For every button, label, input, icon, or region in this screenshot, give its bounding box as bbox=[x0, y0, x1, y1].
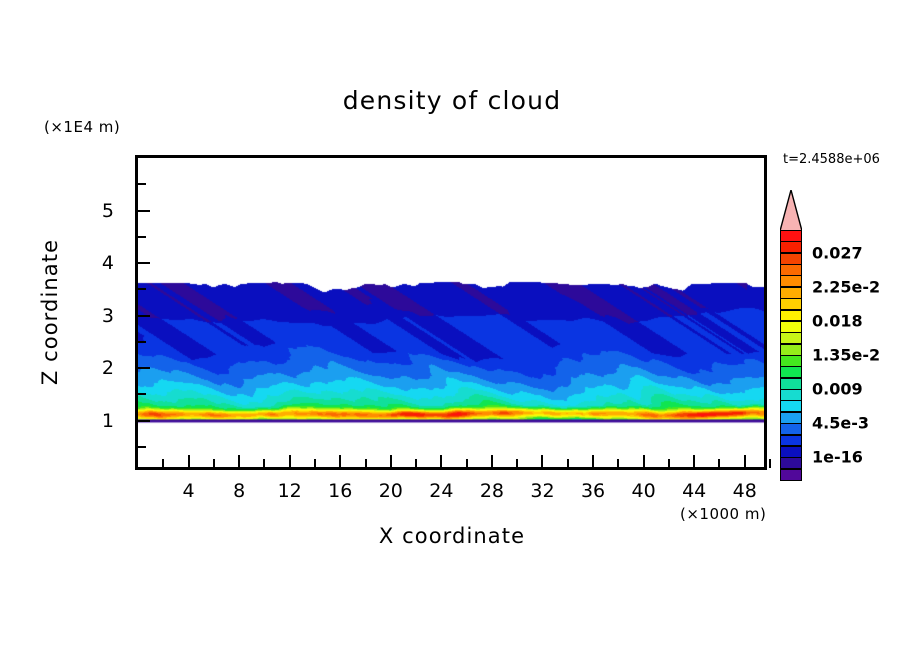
colorbar-tick-label: 2.25e-2 bbox=[812, 277, 880, 296]
x-axis-tick-label: 4 bbox=[183, 480, 195, 502]
x-axis-tick bbox=[440, 455, 442, 468]
colorbar-band bbox=[780, 310, 802, 322]
colorbar-band bbox=[780, 366, 802, 378]
contour-field bbox=[138, 158, 764, 467]
x-axis-tick bbox=[491, 455, 493, 468]
x-axis-tick bbox=[466, 459, 468, 468]
colorbar-arrow-tip bbox=[780, 190, 802, 231]
x-axis-tick bbox=[769, 459, 771, 468]
x-axis-tick-label: 32 bbox=[530, 480, 554, 502]
colorbar-band bbox=[780, 287, 802, 299]
y-axis-tick-label: 2 bbox=[102, 357, 114, 379]
x-axis-tick bbox=[693, 455, 695, 468]
colorbar-tick-label: 0.009 bbox=[812, 380, 863, 399]
colorbar-band bbox=[780, 412, 802, 424]
colorbar-band bbox=[780, 435, 802, 447]
y-axis-tick bbox=[137, 315, 150, 317]
colorbar-band bbox=[780, 423, 802, 435]
colorbar-band bbox=[780, 400, 802, 412]
colorbar-band bbox=[780, 241, 802, 253]
colorbar-band bbox=[780, 230, 802, 242]
y-axis-tick bbox=[137, 446, 146, 448]
x-axis-tick bbox=[415, 459, 417, 468]
y-axis-label: Z coordinate bbox=[38, 202, 62, 422]
y-axis-tick bbox=[137, 367, 150, 369]
x-axis-tick bbox=[289, 455, 291, 468]
y-axis-tick bbox=[137, 183, 146, 185]
colorbar: 0.0272.25e-20.0181.35e-20.0094.5e-31e-16 bbox=[780, 230, 802, 480]
colorbar-band bbox=[780, 457, 802, 469]
x-axis-tick-label: 20 bbox=[379, 480, 403, 502]
x-axis-tick bbox=[516, 459, 518, 468]
colorbar-tick-label: 4.5e-3 bbox=[812, 414, 869, 433]
x-axis-tick-label: 40 bbox=[632, 480, 656, 502]
x-axis-tick bbox=[541, 455, 543, 468]
colorbar-tick-label: 1.35e-2 bbox=[812, 346, 880, 365]
x-axis-tick bbox=[592, 455, 594, 468]
density-field-canvas bbox=[138, 158, 764, 467]
x-axis-tick bbox=[718, 459, 720, 468]
x-axis-tick bbox=[263, 459, 265, 468]
y-axis-tick bbox=[137, 420, 150, 422]
plot-area: 481216202428323640444812345 bbox=[135, 155, 767, 470]
x-axis-tick bbox=[390, 455, 392, 468]
x-axis-tick bbox=[617, 459, 619, 468]
y-axis-tick-label: 3 bbox=[102, 305, 114, 327]
x-axis-tick bbox=[339, 455, 341, 468]
colorbar-band bbox=[780, 253, 802, 265]
timestamp-annotation: t=2.4588e+06 bbox=[783, 152, 880, 167]
x-axis-tick bbox=[314, 459, 316, 468]
x-axis-tick bbox=[744, 455, 746, 468]
y-axis-tick bbox=[137, 288, 146, 290]
colorbar-band bbox=[780, 332, 802, 344]
x-axis-tick-label: 28 bbox=[480, 480, 504, 502]
chart-title: density of cloud bbox=[0, 86, 904, 115]
x-axis-tick bbox=[162, 459, 164, 468]
colorbar-band bbox=[780, 446, 802, 458]
colorbar-tick-label: 0.018 bbox=[812, 311, 863, 330]
figure-canvas: density of cloud (×1E4 m) t=2.4588e+06 4… bbox=[0, 0, 904, 654]
x-axis-tick-label: 48 bbox=[733, 480, 757, 502]
x-axis-tick bbox=[643, 455, 645, 468]
y-axis-units: (×1E4 m) bbox=[44, 118, 120, 136]
colorbar-band bbox=[780, 321, 802, 333]
y-axis-tick-label: 4 bbox=[102, 252, 114, 274]
colorbar-tick-label: 1e-16 bbox=[812, 448, 863, 467]
colorbar-band bbox=[780, 355, 802, 367]
colorbar-band bbox=[780, 469, 802, 481]
y-axis-tick bbox=[137, 210, 150, 212]
x-axis-tick bbox=[668, 459, 670, 468]
colorbar-band bbox=[780, 344, 802, 356]
y-axis-tick-label: 5 bbox=[102, 200, 114, 222]
x-axis-tick bbox=[238, 455, 240, 468]
x-axis-label: X coordinate bbox=[0, 524, 904, 548]
y-axis-tick bbox=[137, 341, 146, 343]
x-axis-units: (×1000 m) bbox=[680, 505, 766, 523]
x-axis-tick-label: 16 bbox=[328, 480, 352, 502]
colorbar-band bbox=[780, 389, 802, 401]
colorbar-band bbox=[780, 264, 802, 276]
colorbar-tick-label: 0.027 bbox=[812, 243, 863, 262]
y-axis-tick bbox=[137, 236, 146, 238]
x-axis-tick-label: 44 bbox=[682, 480, 706, 502]
x-axis-tick bbox=[567, 459, 569, 468]
y-axis-tick-label: 1 bbox=[102, 410, 114, 432]
colorbar-band bbox=[780, 378, 802, 390]
y-axis-tick bbox=[137, 393, 146, 395]
x-axis-tick-label: 12 bbox=[278, 480, 302, 502]
colorbar-band bbox=[780, 275, 802, 287]
colorbar-band bbox=[780, 298, 802, 310]
x-axis-tick bbox=[213, 459, 215, 468]
x-axis-tick-label: 8 bbox=[233, 480, 245, 502]
x-axis-tick-label: 36 bbox=[581, 480, 605, 502]
y-axis-tick bbox=[137, 262, 150, 264]
x-axis-tick-label: 24 bbox=[429, 480, 453, 502]
x-axis-tick bbox=[365, 459, 367, 468]
x-axis-tick bbox=[188, 455, 190, 468]
